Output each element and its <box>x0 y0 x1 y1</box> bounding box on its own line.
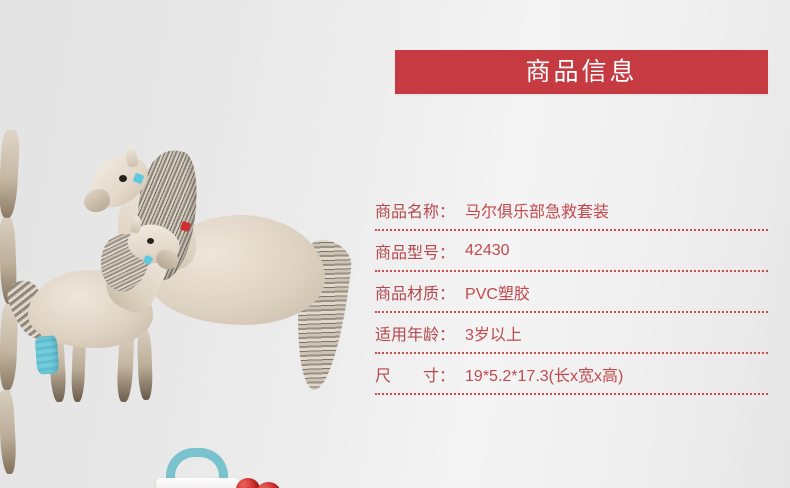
table-row: 尺 寸 ： 19*5.2*17.3(长x宽x高) <box>375 354 768 395</box>
spec-colon: ： <box>439 280 455 304</box>
spec-table: 商品名称 ： 马尔俱乐部急救套装 商品型号 ： 42430 商品材质 ： PVC… <box>375 190 768 395</box>
spec-label: 商品型号 <box>375 239 439 263</box>
spec-value: 马尔俱乐部急救套装 <box>465 198 609 222</box>
leg-bandage <box>35 335 60 374</box>
spec-value: 3岁以上 <box>465 321 522 345</box>
first-aid-kit <box>150 448 250 488</box>
product-image-stage <box>0 130 370 450</box>
spec-colon: ： <box>439 239 455 263</box>
spec-label: 商品材质 <box>375 280 439 304</box>
spec-value: 42430 <box>465 242 510 260</box>
apple <box>236 478 260 488</box>
spec-label: 尺 寸 <box>375 362 439 386</box>
product-info-page: 商品信息 商品名称 ： 马尔俱乐部急救套装 商品型号 ： 42430 商品材质 … <box>0 0 790 488</box>
kit-lid <box>156 478 240 488</box>
page-title: 商品信息 <box>525 60 637 85</box>
section-banner: 商品信息 <box>395 50 768 94</box>
spec-label: 商品名称 <box>375 198 439 222</box>
spec-colon: ： <box>439 198 455 222</box>
spec-colon: ： <box>439 362 455 386</box>
table-row: 商品型号 ： 42430 <box>375 231 768 272</box>
spec-label: 适用年龄 <box>375 321 439 345</box>
mare-eye <box>119 175 127 182</box>
mare-hind-leg-far <box>0 130 20 219</box>
table-row: 商品材质 ： PVC塑胶 <box>375 272 768 313</box>
apple <box>256 482 281 488</box>
spec-value: 19*5.2*17.3(长x宽x高) <box>465 362 623 386</box>
spec-colon: ： <box>439 321 455 345</box>
table-row: 适用年龄 ： 3岁以上 <box>375 313 768 354</box>
table-row: 商品名称 ： 马尔俱乐部急救套装 <box>375 190 768 231</box>
product-image <box>0 130 370 450</box>
mare-front-leg-near <box>0 390 17 475</box>
foal-eye <box>147 238 154 244</box>
spec-value: PVC塑胶 <box>465 280 530 304</box>
